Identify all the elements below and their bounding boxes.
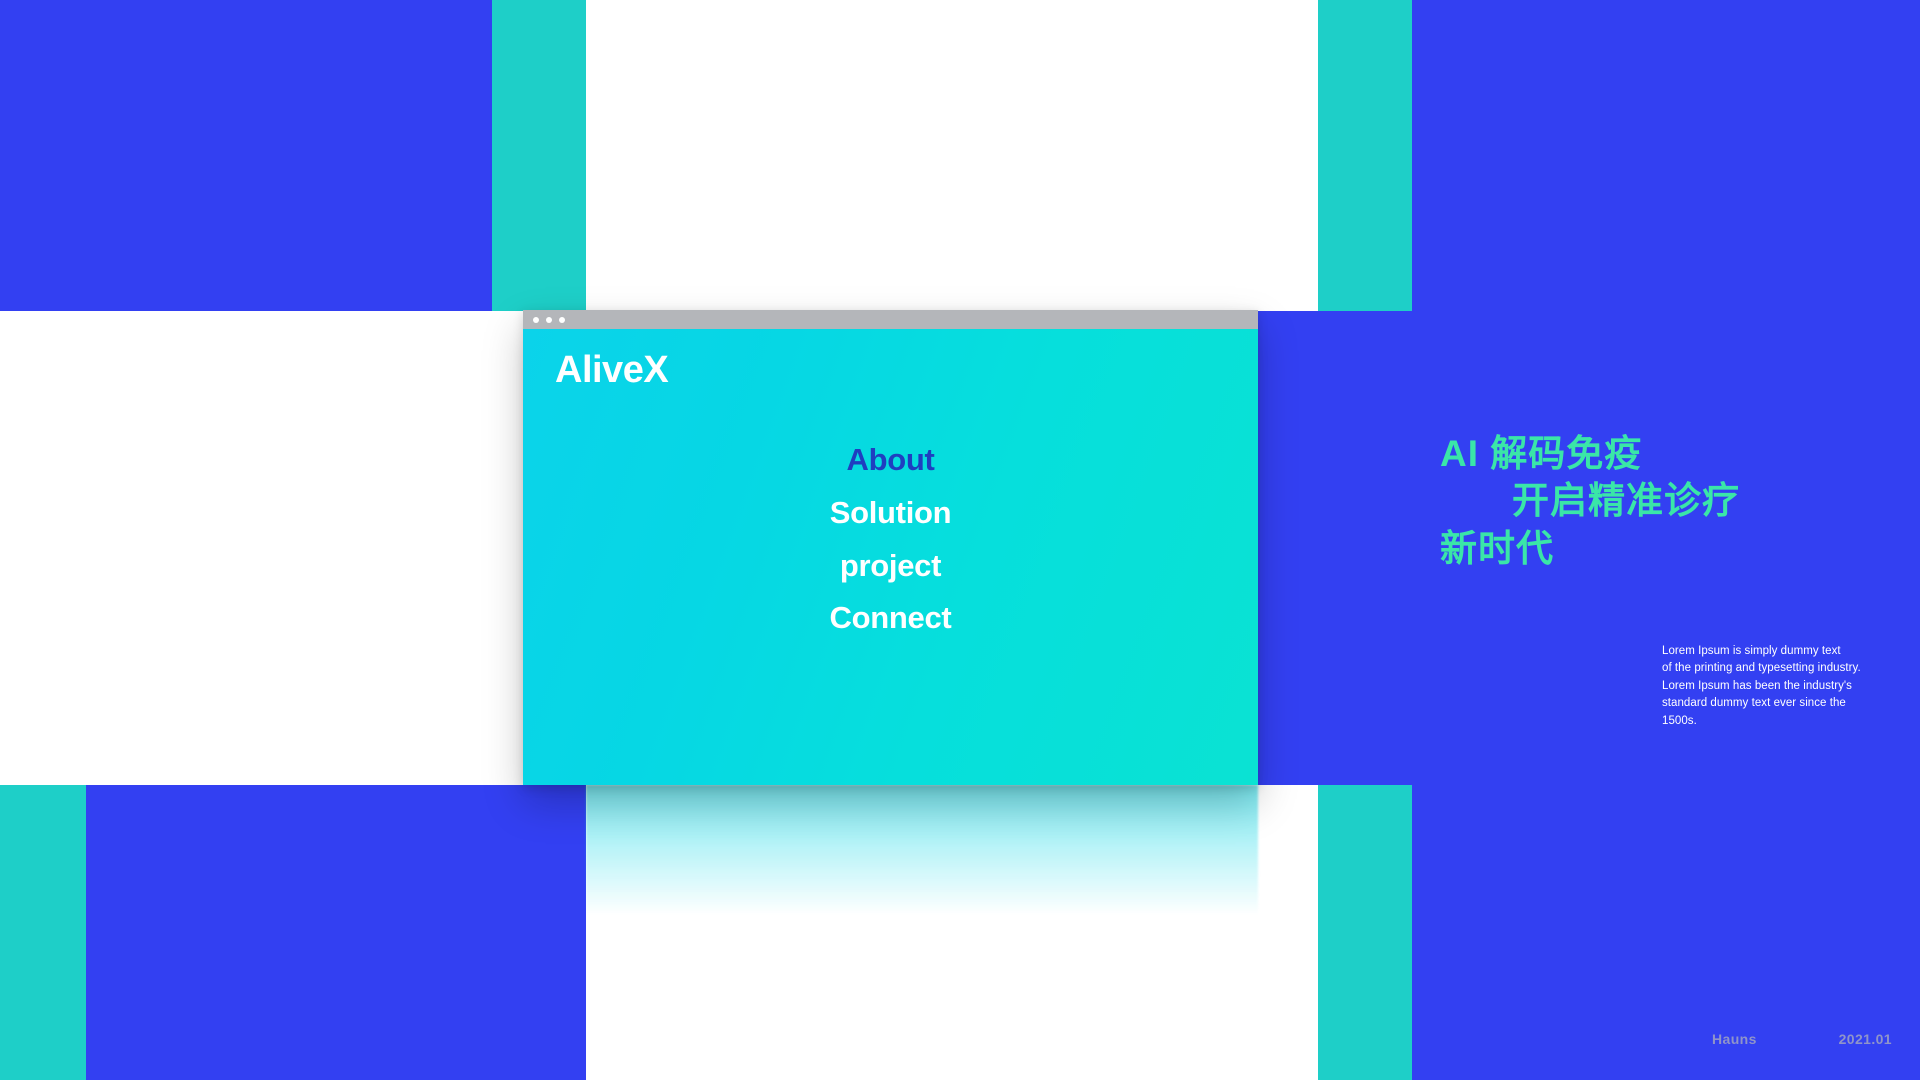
bg-block-bottom-left-blue <box>86 785 586 1080</box>
nav-item-solution[interactable]: Solution <box>830 494 952 533</box>
hero-text-panel: AI 解码免疫 开启精准诊疗 新时代 <box>1440 430 1900 572</box>
hero-heading-line-3: 新时代 <box>1440 525 1900 572</box>
bg-block-top-right-teal <box>1318 0 1412 311</box>
bg-block-mid-strip-blue <box>1258 311 1412 785</box>
window-minimize-dot-icon[interactable] <box>546 317 552 323</box>
bg-block-bottom-right-teal <box>1318 785 1412 1080</box>
footer-author: Hauns <box>1712 1031 1757 1047</box>
nav-item-project[interactable]: project <box>840 547 941 586</box>
hero-heading: AI 解码免疫 开启精准诊疗 新时代 <box>1440 430 1900 572</box>
window-maximize-dot-icon[interactable] <box>559 317 565 323</box>
site-logo-text: AliveX <box>555 349 668 391</box>
browser-window-reflection <box>586 785 1258 915</box>
hero-heading-line-1: AI 解码免疫 <box>1440 430 1900 477</box>
site-logo[interactable]: AliveX <box>555 351 668 389</box>
browser-window-mockup: AliveX About Solution project Connect <box>523 310 1258 785</box>
hero-paragraph-line-3: Lorem Ipsum has been the industry's <box>1662 678 1877 695</box>
hero-heading-line-2: 开启精准诊疗 <box>1440 477 1900 524</box>
bg-block-top-left-blue <box>0 0 492 311</box>
hero-paragraph-line-1: Lorem Ipsum is simply dummy text <box>1662 643 1877 660</box>
nav-item-about[interactable]: About <box>846 441 934 480</box>
window-close-dot-icon[interactable] <box>533 317 539 323</box>
slide-canvas: AliveX About Solution project Connect AI… <box>0 0 1920 1080</box>
bg-block-top-left-teal <box>492 0 586 311</box>
bg-block-bottom-left-teal <box>0 785 86 1080</box>
hero-paragraph: Lorem Ipsum is simply dummy text of the … <box>1662 643 1877 730</box>
hero-paragraph-line-2: of the printing and typesetting industry… <box>1662 660 1877 677</box>
slide-footer: Hauns 2021.01 <box>1712 1031 1892 1047</box>
browser-titlebar <box>523 310 1258 329</box>
footer-date: 2021.01 <box>1839 1031 1892 1047</box>
browser-viewport: AliveX About Solution project Connect <box>523 329 1258 785</box>
hero-paragraph-line-4: standard dummy text ever since the 1500s… <box>1662 695 1877 730</box>
nav-item-connect[interactable]: Connect <box>830 599 952 638</box>
bg-block-top-right-blue <box>1412 0 1920 311</box>
site-navigation: About Solution project Connect <box>523 441 1258 638</box>
